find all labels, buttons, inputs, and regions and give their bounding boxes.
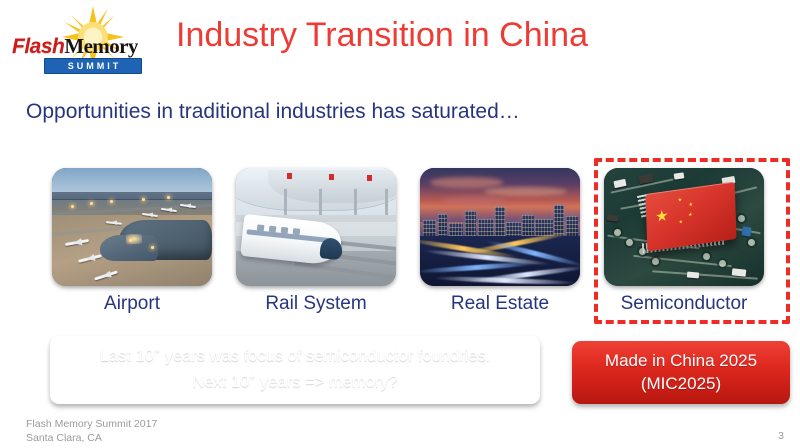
red-callout-banner: Made in China 2025 (MIC2025) bbox=[572, 341, 790, 404]
green-line1-pre: Last 10 bbox=[100, 347, 154, 365]
slide-subtitle: Opportunities in traditional industries … bbox=[26, 100, 520, 124]
city-skyline-illustration bbox=[420, 168, 580, 286]
footer-line-1: Flash Memory Summit 2017 bbox=[26, 417, 157, 431]
logo-summit-text: SUMMIT bbox=[65, 62, 122, 71]
card-caption-airport: Airport bbox=[52, 293, 212, 315]
rail-system-thumbnail bbox=[236, 168, 396, 286]
airport-illustration bbox=[52, 168, 212, 286]
slide-footer: Flash Memory Summit 2017 Santa Clara, CA bbox=[26, 417, 157, 445]
logo-wordmark: FlashMemory bbox=[10, 34, 158, 58]
logo-memory-text: Memory bbox=[64, 36, 137, 57]
card-caption-rail-system: Rail System bbox=[236, 293, 396, 315]
red-banner-line-2: (MIC2025) bbox=[641, 373, 721, 396]
green-line2-post: years => memory? bbox=[256, 373, 398, 391]
green-line2-pre: Next 10 bbox=[192, 373, 249, 391]
slide-canvas: FlashMemory SUMMIT Industry Transition i… bbox=[0, 0, 800, 448]
page-number: 3 bbox=[778, 430, 784, 442]
green-banner-line-2: Next 10+ years => memory? bbox=[192, 370, 397, 396]
logo-summit-banner: SUMMIT bbox=[44, 58, 142, 74]
airport-thumbnail bbox=[52, 168, 212, 286]
footer-line-2: Santa Clara, CA bbox=[26, 431, 157, 445]
green-callout-banner: Last 10+ years was focus of semiconducto… bbox=[50, 336, 540, 404]
green-banner-line-1: Last 10+ years was focus of semiconducto… bbox=[100, 344, 491, 370]
high-speed-train-illustration bbox=[236, 168, 396, 286]
card-rail-system: Rail System bbox=[236, 168, 396, 315]
page-title: Industry Transition in China bbox=[176, 16, 588, 55]
logo-flash-text: Flash bbox=[10, 36, 64, 57]
flash-memory-summit-logo: FlashMemory SUMMIT bbox=[10, 8, 158, 70]
card-real-estate: Real Estate bbox=[420, 168, 580, 315]
red-banner-line-1: Made in China 2025 bbox=[605, 350, 757, 373]
real-estate-thumbnail bbox=[420, 168, 580, 286]
green-line1-post: years was focus of semiconductor foundri… bbox=[160, 347, 490, 365]
card-caption-real-estate: Real Estate bbox=[420, 293, 580, 315]
card-airport: Airport bbox=[52, 168, 212, 315]
semiconductor-highlight-box bbox=[594, 158, 790, 324]
